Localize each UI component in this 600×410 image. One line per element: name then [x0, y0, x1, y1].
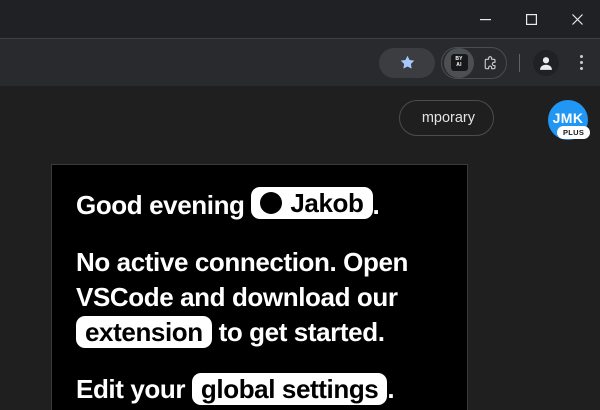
browser-menu-button[interactable] — [566, 47, 596, 79]
ai-extension-icon-line2: AI — [456, 63, 461, 69]
temporary-chat-button[interactable]: mporary — [399, 100, 494, 136]
account-avatar[interactable]: JMK PLUS — [548, 100, 588, 140]
settings-line: Edit your global settings. — [76, 372, 443, 407]
greeting-block: Good evening Jakob. — [76, 187, 443, 223]
tab-strip — [0, 0, 600, 38]
three-dots-icon-dot3 — [580, 67, 583, 70]
browser-window: BY AI — [0, 0, 600, 410]
three-dots-icon-dot2 — [580, 61, 583, 64]
temporary-chat-label: mporary — [422, 110, 475, 126]
browser-toolbar: BY AI — [0, 38, 600, 86]
close-icon — [572, 14, 583, 25]
page-content: mporary JMK PLUS Good evening Jakob. No … — [0, 86, 600, 410]
connection-status-line3: extension to get started. — [76, 315, 443, 350]
global-settings-label: global settings — [201, 374, 378, 404]
connection-status-line1: No active connection. Open — [76, 245, 443, 280]
extensions-group: BY AI — [441, 47, 507, 79]
puzzle-piece-icon — [480, 54, 498, 72]
connection-status-line2: VSCode and download our — [76, 280, 443, 315]
ai-extension-button[interactable]: BY AI — [444, 48, 474, 78]
toolbar-actions: BY AI — [379, 39, 596, 86]
ai-extension-icon: BY AI — [451, 54, 468, 71]
connection-status-block: No active connection. Open VSCode and do… — [76, 245, 443, 350]
settings-prefix: Edit your — [76, 374, 192, 404]
extension-link-pill[interactable]: extension — [76, 316, 212, 348]
extension-link-label: extension — [85, 317, 203, 347]
person-icon — [535, 52, 557, 74]
toolbar-divider — [519, 54, 520, 72]
maximize-button[interactable] — [508, 0, 554, 38]
three-dots-icon-dot1 — [580, 55, 583, 58]
plus-badge: PLUS — [557, 126, 590, 139]
connection-status-suffix: to get started. — [212, 317, 385, 347]
extensions-button[interactable] — [474, 48, 504, 78]
window-controls — [462, 0, 600, 38]
user-avatar-dot-icon — [260, 192, 282, 214]
bookmark-button[interactable] — [379, 48, 435, 78]
profile-button[interactable] — [530, 47, 562, 79]
settings-block: Edit your global settings. — [76, 372, 443, 407]
star-icon — [399, 54, 416, 71]
settings-suffix: . — [387, 374, 394, 404]
greeting-prefix: Good evening — [76, 190, 251, 220]
global-settings-pill[interactable]: global settings — [192, 373, 387, 405]
maximize-icon — [526, 14, 537, 25]
minimize-icon — [480, 14, 491, 25]
minimize-button[interactable] — [462, 0, 508, 38]
person-avatar-icon — [533, 50, 559, 76]
greeting-suffix: . — [373, 190, 380, 220]
status-overlay-panel: Good evening Jakob. No active connection… — [51, 164, 468, 410]
greeting-line: Good evening Jakob. — [76, 187, 443, 223]
user-name-label: Jakob — [290, 188, 363, 218]
close-button[interactable] — [554, 0, 600, 38]
user-name-pill[interactable]: Jakob — [251, 187, 372, 219]
